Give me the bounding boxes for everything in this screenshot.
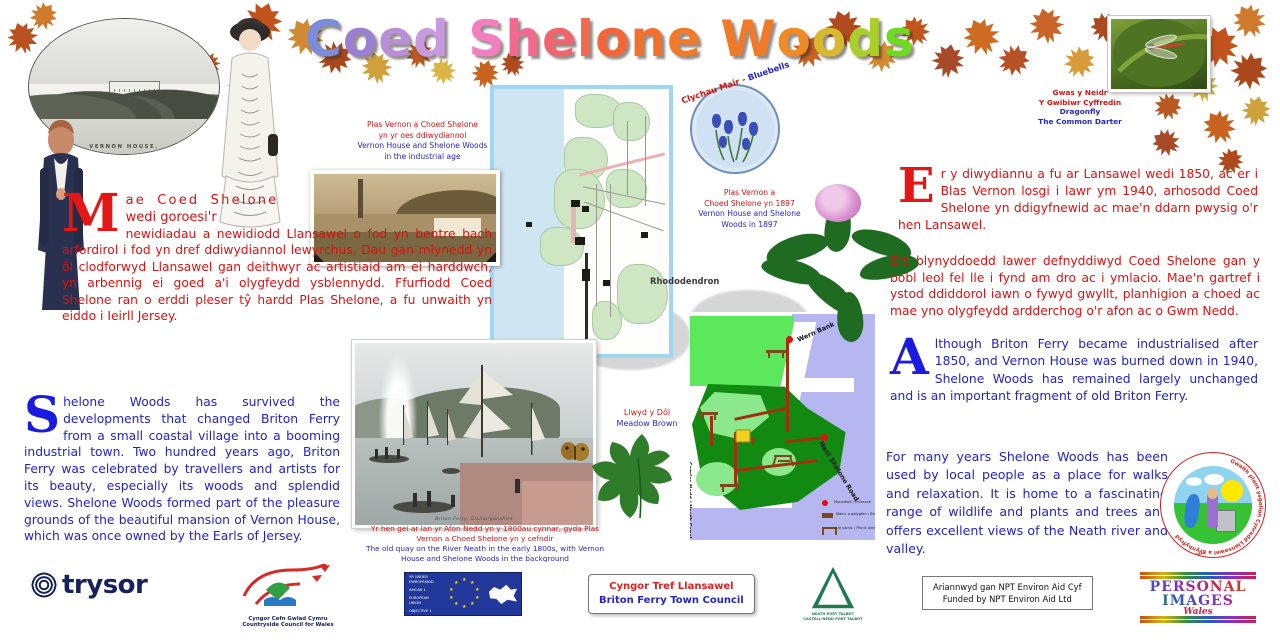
sponsor-logo-bar: trysor Cyngor Cefn Gwlad Cymru Countrysi… [0,562,1280,640]
legend-bench-label: Mainc a golygfan / Bench & viewpoint [836,512,875,516]
legend-picnic-label: Lle picnic / Picnic area [836,526,875,530]
ccw-label-english: Countryside Council for Wales [230,622,346,628]
briton-ferry-painting: Briton Ferry, Glamorganshire [352,340,596,528]
oak-leaf-photo [592,432,690,536]
welsh-dragon-icon [489,583,517,605]
logo-trysor[interactable]: trysor [30,570,147,600]
caption-welsh-line-2: Vernon a Choed Shelone yn y cefndir [340,534,630,544]
autumn-leaf-icon [1147,123,1188,164]
dragonfly-caption: Gwas y Neidr Y Gwibiwr Cyffredin Dragonf… [1000,88,1160,126]
autumn-leaf-icon [1237,93,1275,131]
map-building [582,269,590,281]
school-project-roundel: Gwaith plant ysgolion Cynradd Llansawel … [1160,452,1266,558]
meadow-brown-butterfly [560,440,590,466]
map-woodland [592,301,622,340]
caption-english-line-1: Vernon House and Shelone Woods [330,141,515,152]
map-building [641,232,648,238]
title-letter: h [505,10,542,68]
dropcap-s: S [24,396,60,434]
autumn-leaf-icon [1220,44,1277,101]
caption-welsh-line-1: Plas Vernon a [662,188,837,199]
bluebell-label: Clychau Mair - Bluebells [676,70,846,110]
autumn-leaf-icon [1024,4,1070,50]
english-right-2-body: For many years Shelone Woods has been us… [886,449,1168,556]
title-letter: e [542,10,577,68]
logo-countryside-council-for-wales[interactable]: Cyngor Cefn Gwlad Cymru Countryside Coun… [230,564,346,629]
map-boundary [596,184,597,306]
caption-welsh-line-1: Gwas y Neidr [1000,88,1160,98]
dropcap-m: M [62,194,120,234]
map-building [575,237,585,245]
text-block-welsh-main: M ae Coed Shelone wedi goroesi'r newidia… [62,192,492,324]
caption-english-line-1: The old quay on the River Neath in the e… [340,544,630,554]
legend-entrance-label: Mynediad / Entrance [834,500,871,504]
title-letter: l [577,10,595,68]
map-building [571,200,580,207]
nptcbc-label-welsh: CASTELL-NEDD PORT TALBOT [790,617,876,622]
npt-environ-label-welsh: Ariannwyd gan NPT Environ Aid Cyf [933,581,1082,593]
dropcap-a: A [890,338,929,376]
btfc-label-english: Briton Ferry Town Council [599,594,744,608]
trysor-mark-icon [30,571,58,599]
welsh-right-body: r y diwydiannu a fu ar Lansawel wedi 185… [898,167,1258,232]
welsh-right-2-body: Ers blynyddoedd lawer defnyddiwyd Coed S… [890,254,1260,318]
dropcap-e: E [898,168,935,204]
btfc-label-welsh: Cyngor Tref Llansawel [599,580,744,594]
title-letter: n [630,10,667,68]
legend-picnic-icon [822,527,837,535]
title-letter: d [847,10,884,68]
map-boundary [610,184,611,317]
title-letter: o [777,10,812,68]
caption-english-line-2: Woods in 1897 [662,220,837,231]
map-1897-caption: Plas Vernon a Choed Shelone yn 1897 Vern… [662,188,837,230]
title-letter: o [343,10,378,68]
butterfly-label-welsh: Llwyd y Dôl [592,408,702,419]
text-block-english-main: S helone Woods has survived the developm… [24,394,340,545]
panel-title: Coed Shelone Woods [300,6,920,72]
autumn-leaf-icon [1195,103,1245,153]
engraving-trees [28,65,220,119]
map-railway [585,253,588,348]
title-letter: S [468,10,505,68]
autumn-leaf-icon [927,41,969,83]
autumn-leaf-icon [955,11,1008,64]
legend-bench-icon [822,513,833,518]
caption-welsh-line-2: yn yr oes ddiwydiannol [330,131,515,142]
bluebell-label-welsh: Clychau Mair [680,76,741,105]
title-letter: W [720,10,776,68]
autumn-leaf-icon [1055,39,1102,86]
industrial-photo-caption: Plas Vernon a Choed Shelone yn yr oes dd… [330,120,515,162]
text-block-english-right: A lthough Briton Ferry became industrial… [890,336,1258,406]
roundel-ring-text: Gwaith plant ysgolion Cynradd Llansawel … [1161,453,1265,557]
english-right-body: lthough Briton Ferry became industrialis… [890,337,1258,403]
rhododendron-leaf [835,291,864,343]
autumn-leaf-icon [989,37,1036,84]
map-woodland [554,169,605,229]
map-building [582,206,589,212]
title-letter: o [812,10,847,68]
npt-environ-label-english: Funded by NPT Environ Aid Ltd [933,593,1082,605]
painting-plate-label: Briton Ferry, Glamorganshire [355,517,593,522]
caption-english-line-1: Vernon House and Shelone [662,209,837,220]
title-letter [450,10,468,68]
text-block-welsh-right: E r y diwydiannu a fu ar Lansawel wedi 1… [898,166,1258,234]
welsh-main-lead-2: wedi goroesi'r [120,209,492,226]
title-letter: e [378,10,413,68]
ccw-mark-icon [230,564,346,612]
site-location-map[interactable]: Wern Bank Heol Shelone Road Camlas Nedd … [690,312,875,540]
eu-label-english-2: OBJECTIVE 1 [409,609,439,614]
welsh-main-body: newidiadau a newidiodd Llansawel o fod y… [62,226,492,324]
eu-label-welsh-1: YR UNDEB EWROPEAIDD [409,575,439,585]
map-boundary [627,121,628,195]
meadow-brown-label: Llwyd y Dôl Meadow Brown [592,408,702,429]
map-label-neath-canal: Camlas Nedd / Neath Canal [690,462,692,538]
title-letter: e [667,10,702,68]
map-woodland [617,264,668,324]
caption-welsh-line-1: Plas Vernon a Choed Shelone [330,120,515,131]
legend-entrance-icon [822,500,828,506]
pi-rule-bottom [1140,616,1256,619]
historic-map-1897[interactable] [490,85,673,358]
eu-label-english-1: EUROPEAN UNION [409,596,439,606]
text-block-welsh-right-2: Ers blynyddoedd lawer defnyddiwyd Coed S… [890,253,1260,319]
caption-welsh-line-1: Yr hen gei ar lan yr Afon Nedd yn y 1800… [340,524,630,534]
trysor-wordmark: trysor [62,570,147,600]
title-letter: d [413,10,450,68]
map-boundary [645,116,646,206]
logo-npt-environ-aid[interactable]: Ariannwyd gan NPT Environ Aid Cyf Funded… [922,576,1093,610]
text-block-english-right-2: For many years Shelone Woods has been us… [886,448,1168,558]
interpretation-panel: Coed Shelone Woods VERNON HOUSE. [0,0,1280,640]
autumn-leaf-icon [1225,0,1274,47]
eu-label-welsh-2: AMCAN 1 [409,588,439,593]
logo-briton-ferry-town-council[interactable]: Cyngor Tref Llansawel Briton Ferry Town … [588,574,755,614]
eu-stars-icon: ★★ ★★ ★★ ★★ ★★ [447,577,481,611]
map-woodland [540,227,584,266]
welsh-main-lead-1: ae Coed Shelone [120,192,492,209]
caption-english-line-2: in the industrial age [330,152,515,163]
english-main-body: helone Woods has survived the developmen… [24,395,340,543]
title-letter [702,10,720,68]
logo-european-union[interactable]: YR UNDEB EWROPEAIDD AMCAN 1 EUROPEAN UNI… [404,572,522,616]
title-letter: C [305,10,343,68]
logo-neath-port-talbot-council[interactable]: NEATH PORT TALBOT CASTELL-NEDD PORT TALB… [790,566,876,622]
title-letter: o [595,10,630,68]
butterfly-label-english: Meadow Brown [592,419,702,430]
map-building [526,222,532,227]
map-building [603,280,610,286]
caption-welsh-line-2: Y Gwibiwr Cyffredin [1000,98,1160,108]
nptcbc-triangle-icon [811,566,855,610]
caption-welsh-line-2: Choed Shelone yn 1897 [662,199,837,210]
svg-text:Gwaith plant ysgolion Cynradd: Gwaith plant ysgolion Cynradd Llansawel … [1174,459,1263,556]
pi-rule-top [1140,572,1256,575]
caption-english-line-2: The Common Darter [1000,117,1160,127]
title-letter: s [884,10,915,68]
pi-rule-bottom-2 [1140,620,1256,623]
caption-english-line-1: Dragonfly [1000,107,1160,117]
logo-personal-images-wales[interactable]: PERSONAL IMAGES Wales [1140,570,1256,620]
painting-caption: Yr hen gei ar lan yr Afon Nedd yn y 1800… [340,524,630,564]
dragonfly-photograph [1108,16,1210,92]
page-title: Coed Shelone Woods [305,10,915,68]
rhododendron-label: Rhododendron [650,276,719,286]
